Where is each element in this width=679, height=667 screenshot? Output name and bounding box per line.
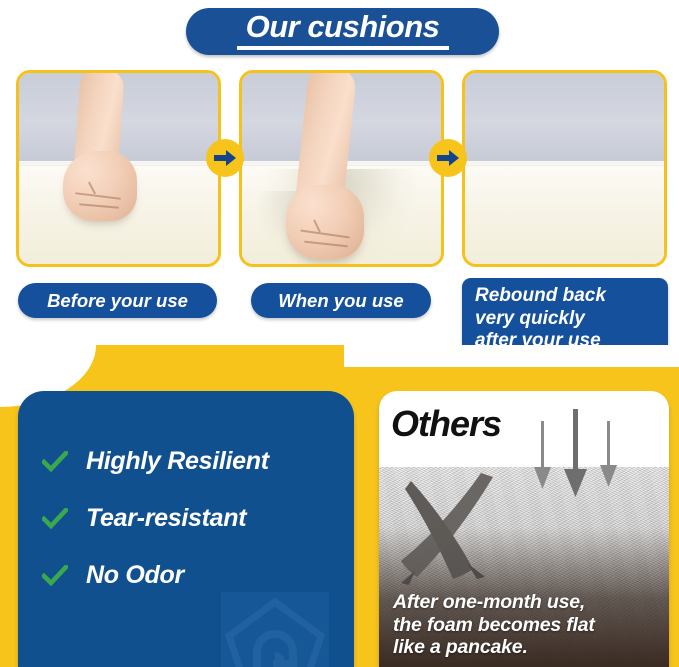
caption-before-your-use: Before your use [18,283,217,318]
pentagon-house-logo-icon [217,588,333,667]
feature-label: No Odor [86,561,184,590]
photo-foam-edge [465,161,664,166]
feature-label: Tear-resistant [86,504,246,533]
demo-photo-during [239,70,444,267]
feature-label: Highly Resilient [86,447,269,476]
caption-when-you-use: When you use [251,283,431,318]
demo-photo-after [462,70,667,267]
title-underline [237,46,449,50]
check-icon [40,565,70,587]
fist-shape [63,151,137,221]
features-panel: Highly Resilient Tear-resistant No Odor [18,391,354,667]
fist-shape [286,185,364,259]
caption-text: Before your use [47,290,188,312]
photo-background-wall [465,73,664,163]
others-title: Others [391,403,501,445]
arrow-right-icon [429,139,467,177]
others-caption-line-3: like a pancake. [393,636,659,659]
arrow-right-icon [206,139,244,177]
demo-photo-row [0,70,679,270]
others-comparison-panel: Others After one-month use, [379,391,669,667]
features-list: Highly Resilient Tear-resistant No Odor [40,433,340,604]
caption-line-1: Rebound back [475,285,606,307]
x-cross-brush-icon [397,473,527,591]
others-caption: After one-month use, the foam becomes fl… [393,591,659,659]
photo-foam-surface [465,163,664,264]
caption-line-2: very quickly [475,308,585,330]
caption-text: When you use [278,290,403,312]
demo-photo-before [16,70,221,267]
others-caption-line-1: After one-month use, [393,591,659,614]
page-title-banner: Our cushions [186,8,499,55]
top-gap-decoration [344,345,679,367]
feature-item-highly-resilient: Highly Resilient [40,433,340,490]
arrow-down-icon-group [517,405,637,517]
page-title: Our cushions [246,11,440,42]
feature-item-tear-resistant: Tear-resistant [40,490,340,547]
check-icon [40,451,70,473]
others-caption-line-2: the foam becomes flat [393,614,659,637]
check-icon [40,508,70,530]
